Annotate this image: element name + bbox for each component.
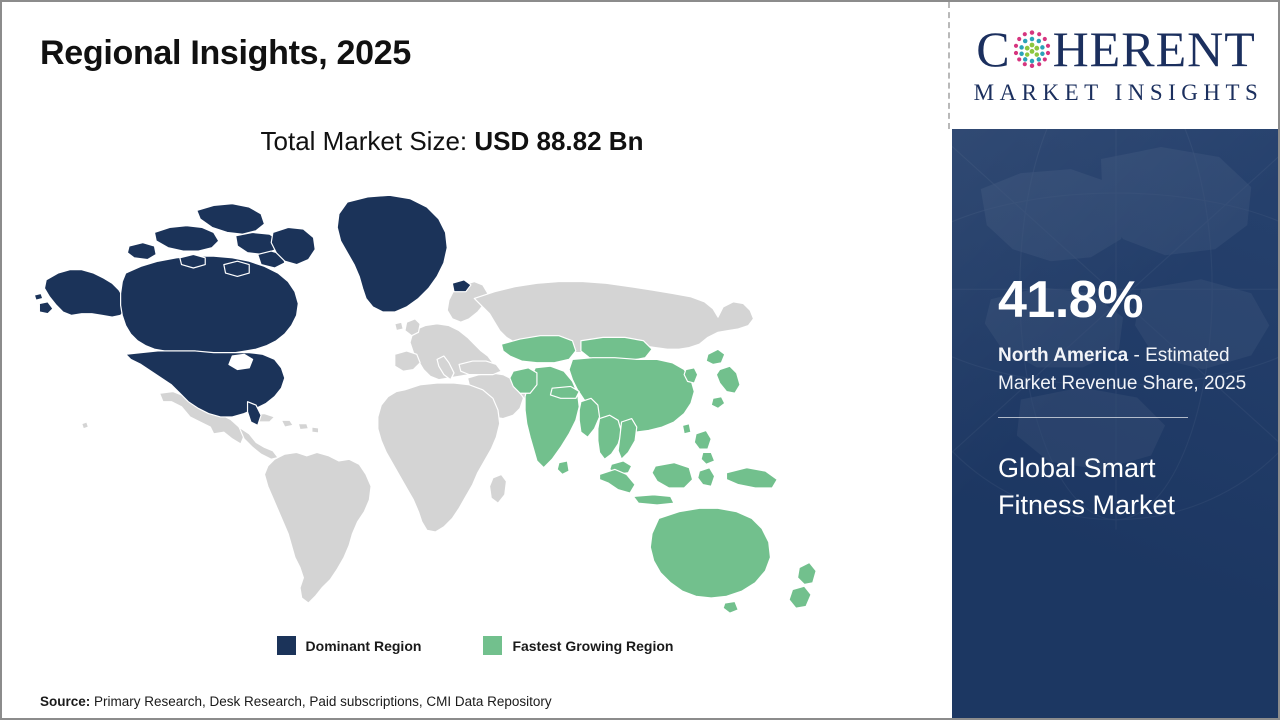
logo-word-right: HERENT: [1053, 24, 1256, 74]
stat-panel: 41.8% North America - Estimated Market R…: [952, 129, 1280, 720]
legend-label-dominant: Dominant Region: [306, 638, 422, 654]
logo-word-left: C: [976, 24, 1010, 74]
legend-label-fastest-growing: Fastest Growing Region: [512, 638, 673, 654]
logo-subtitle: MARKET INSIGHTS: [969, 80, 1264, 106]
market-size-value: USD 88.82 Bn: [474, 126, 643, 156]
map-region-fastest-growing: [501, 336, 816, 614]
stat-panel-content: 41.8% North America - Estimated Market R…: [998, 129, 1248, 525]
brand-logo: C: [954, 4, 1278, 126]
market-name: Global Smart Fitness Market: [998, 450, 1248, 525]
infographic-canvas: Regional Insights, 2025 Total Market Siz…: [0, 0, 1280, 720]
source-note: Source: Primary Research, Desk Research,…: [40, 694, 552, 709]
stat-value: 41.8%: [998, 274, 1248, 326]
page-title: Regional Insights, 2025: [40, 34, 411, 73]
stat-region-name: North America: [998, 345, 1128, 366]
source-label: Source:: [40, 694, 90, 709]
market-size-label: Total Market Size:: [261, 126, 468, 156]
stat-divider-rule: [998, 417, 1188, 418]
dotted-globe-icon: [1012, 29, 1052, 69]
left-content-panel: Regional Insights, 2025 Total Market Siz…: [2, 2, 948, 718]
legend-swatch-fastest-growing: [483, 636, 502, 655]
total-market-size: Total Market Size: USD 88.82 Bn: [2, 126, 902, 157]
legend-item-fastest-growing: Fastest Growing Region: [483, 636, 673, 655]
world-map-svg: [24, 180, 884, 620]
legend-swatch-dominant: [277, 636, 296, 655]
stat-description: North America - Estimated Market Revenue…: [998, 342, 1248, 397]
source-text: Primary Research, Desk Research, Paid su…: [90, 694, 551, 709]
world-map: [24, 180, 884, 620]
vertical-dashed-divider: [948, 2, 950, 129]
map-legend: Dominant Region Fastest Growing Region: [2, 636, 948, 655]
legend-item-dominant: Dominant Region: [277, 636, 422, 655]
logo-wordmark: C: [976, 24, 1256, 74]
